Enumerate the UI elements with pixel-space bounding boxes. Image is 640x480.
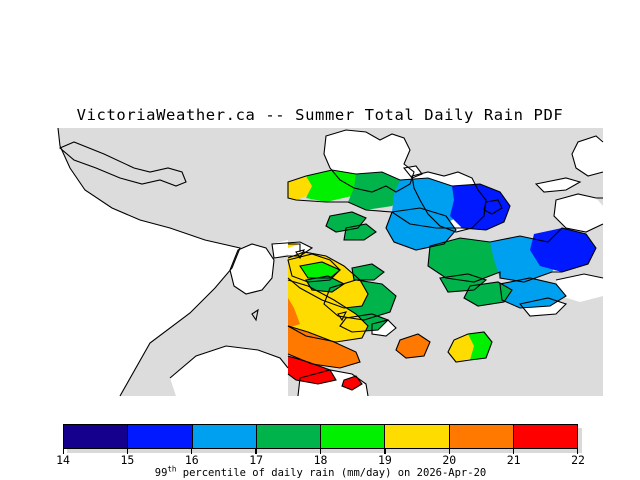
map-svg — [0, 128, 640, 398]
map-panel[interactable] — [0, 128, 640, 398]
weather-map-figure: VictoriaWeather.ca -- Summer Total Daily… — [0, 0, 640, 480]
colorbar-band-14-15[interactable] — [64, 425, 128, 448]
colorbar-label-21: 21 — [507, 453, 521, 467]
colorbar-band-19-20[interactable] — [385, 425, 449, 448]
colorbar-caption: 99th percentile of daily rain (mm/day) o… — [63, 467, 578, 479]
colorbar-band-20-21[interactable] — [450, 425, 514, 448]
colorbar-label-15: 15 — [120, 453, 134, 467]
colorbar-band-16-17[interactable] — [193, 425, 257, 448]
colorbar-bands[interactable] — [63, 424, 578, 449]
colorbar-band-21-22[interactable] — [514, 425, 577, 448]
colorbar-band-17-18[interactable] — [257, 425, 321, 448]
caption-suffix: percentile of daily rain (mm/day) on 202… — [176, 467, 486, 479]
caption-prefix: 99 — [155, 467, 168, 479]
colorbar-tick-labels: 141516171819202122 — [63, 453, 578, 467]
colorbar-band-18-19[interactable] — [321, 425, 385, 448]
colorbar-label-18: 18 — [314, 453, 328, 467]
colorbar-label-22: 22 — [571, 453, 585, 467]
colorbar-label-17: 17 — [249, 453, 263, 467]
figure-title: VictoriaWeather.ca -- Summer Total Daily… — [0, 106, 640, 124]
colorbar-label-14: 14 — [56, 453, 70, 467]
colorbar-label-20: 20 — [442, 453, 456, 467]
colorbar-label-19: 19 — [378, 453, 392, 467]
colorbar-label-16: 16 — [185, 453, 199, 467]
colorbar: 141516171819202122 99th percentile of da… — [63, 424, 583, 476]
colorbar-band-15-16[interactable] — [128, 425, 192, 448]
